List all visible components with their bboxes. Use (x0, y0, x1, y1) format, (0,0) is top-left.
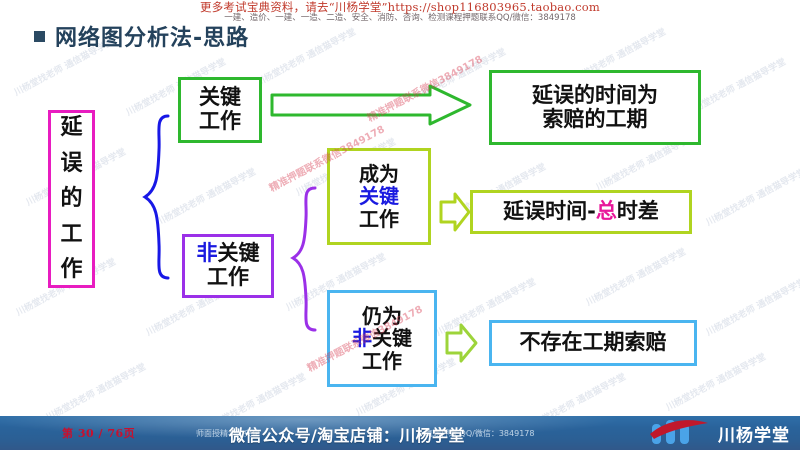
box-result-total-float-post: 时差 (617, 199, 659, 223)
box-delayed-work-line: 延 (60, 117, 82, 139)
brand-logo-text: 川杨学堂 (718, 421, 790, 446)
brace-purple-icon (293, 188, 315, 330)
footer-promo-text: 微信公众号/淘宝店铺：川杨学堂 (229, 422, 465, 446)
box-result-total-float-pre: 延误时间- (503, 199, 596, 223)
arrow-right-lightgreen-icon (447, 325, 476, 361)
box-result-total-float[interactable]: 延误时间-总时差 (470, 190, 692, 234)
arrow-right-yellowgreen-icon (441, 194, 469, 230)
page-number: 第 30 / 76页 (62, 425, 135, 441)
brand-logo[interactable]: 川杨学堂 (648, 417, 794, 447)
box-result-total-float-text: 延误时间-总时差 (503, 200, 659, 224)
box-result-claim-line2: 索赔的工期 (543, 108, 648, 132)
square-bullet-icon (34, 31, 45, 42)
box-still-non-key-line3: 工作 (362, 350, 402, 372)
box-non-key-work-prefix: 非 (197, 241, 218, 265)
footer-bar: 第 30 / 76页 师面授精华、央企 真题押题 QQ/微信：3849178 微… (0, 416, 800, 450)
box-non-key-work-suffix: 关键 (218, 241, 260, 265)
box-delayed-work-line: 误 (60, 153, 82, 175)
box-result-claim-duration[interactable]: 延误的时间为 索赔的工期 (489, 70, 701, 145)
box-key-work-line1: 关键 (199, 86, 241, 110)
slide-canvas: 川杨堂找老师 通信猫导学堂 川杨堂找老师 通信猫导学堂 川杨堂找老师 通信猫导学… (0, 0, 800, 450)
box-becomes-key-line1: 成为 (359, 163, 399, 185)
chuanyang-logo-icon (648, 418, 712, 446)
box-delayed-work[interactable]: 延 误 的 工 作 (48, 110, 95, 288)
box-delayed-work-line: 工 (60, 224, 82, 246)
box-non-key-work-line2: 工作 (207, 266, 249, 290)
box-result-no-claim-text: 不存在工期索赔 (520, 331, 667, 355)
box-non-key-work-line1: 非关键 (197, 242, 260, 266)
box-result-no-claim[interactable]: 不存在工期索赔 (489, 320, 697, 366)
page-title: 网络图分析法-思路 (34, 20, 249, 52)
page-title-text: 网络图分析法-思路 (55, 20, 249, 52)
box-result-claim-line1: 延误的时间为 (532, 84, 658, 108)
brace-blue-icon (145, 116, 168, 278)
box-delayed-work-line: 作 (60, 259, 82, 281)
box-key-work-line2: 工作 (199, 110, 241, 134)
box-key-work[interactable]: 关键 工作 (178, 77, 262, 143)
box-delayed-work-line: 的 (60, 188, 82, 210)
box-becomes-key-line3: 工作 (359, 208, 399, 230)
box-becomes-key-line2: 关键 (359, 185, 399, 207)
box-becomes-key-work[interactable]: 成为 关键 工作 (327, 148, 431, 245)
promo-line-1: 更多考试宝典资料，请去“川杨学堂”https://shop116803965.t… (0, 0, 800, 15)
box-non-key-work[interactable]: 非关键 工作 (182, 234, 274, 298)
box-result-total-float-highlight: 总 (596, 199, 617, 223)
